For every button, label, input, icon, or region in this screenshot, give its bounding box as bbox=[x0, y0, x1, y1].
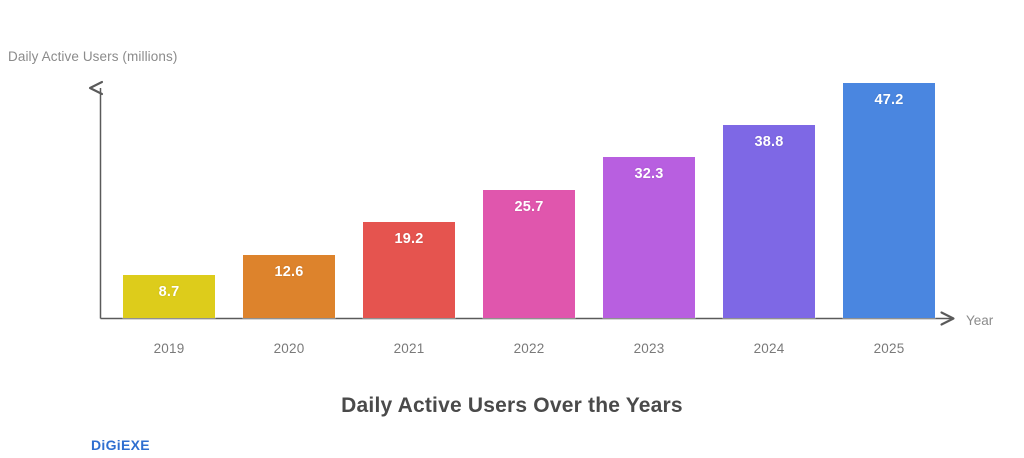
watermark-text: DiGiEXE bbox=[91, 437, 150, 453]
bar-2024: 38.8 bbox=[723, 125, 815, 318]
x-tick-2021: 2021 bbox=[363, 341, 455, 356]
digiexe-watermark: DiGiEXE bbox=[91, 437, 150, 453]
bar-2020: 12.6 bbox=[243, 255, 335, 318]
bar-series: 8.712.619.225.732.338.847.2 bbox=[0, 0, 1024, 458]
bar-value-label-2021: 19.2 bbox=[363, 231, 455, 247]
x-tick-2022: 2022 bbox=[483, 341, 575, 356]
bar-2025: 47.2 bbox=[843, 83, 935, 318]
x-tick-2019: 2019 bbox=[123, 341, 215, 356]
bar-2022: 25.7 bbox=[483, 190, 575, 318]
x-tick-2024: 2024 bbox=[723, 341, 815, 356]
bar-value-label-2025: 47.2 bbox=[843, 92, 935, 108]
bar-value-label-2023: 32.3 bbox=[603, 166, 695, 182]
bar-2023: 32.3 bbox=[603, 157, 695, 318]
bar-2019: 8.7 bbox=[123, 275, 215, 318]
bar-value-label-2019: 8.7 bbox=[123, 284, 215, 300]
chart-canvas: Daily Active Users (millions) 8.712.619.… bbox=[0, 0, 1024, 458]
x-tick-2023: 2023 bbox=[603, 341, 695, 356]
x-axis-label: Year bbox=[966, 313, 993, 328]
bar-2021: 19.2 bbox=[363, 222, 455, 318]
x-tick-2020: 2020 bbox=[243, 341, 335, 356]
bar-value-label-2024: 38.8 bbox=[723, 134, 815, 150]
x-tick-2025: 2025 bbox=[843, 341, 935, 356]
bar-value-label-2022: 25.7 bbox=[483, 199, 575, 215]
bar-value-label-2020: 12.6 bbox=[243, 264, 335, 280]
chart-title: Daily Active Users Over the Years bbox=[0, 394, 1024, 418]
